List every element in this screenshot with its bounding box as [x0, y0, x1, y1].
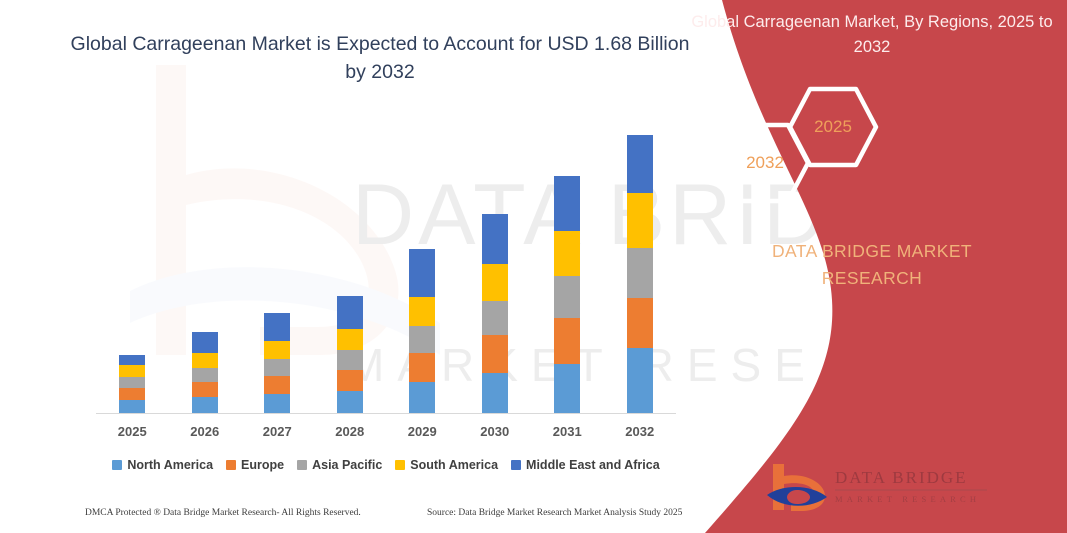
bar-2025[interactable] — [119, 355, 145, 413]
bar-segment[interactable] — [119, 388, 145, 400]
bar-segment[interactable] — [337, 296, 363, 329]
bar-segment[interactable] — [482, 264, 508, 301]
bar-segment[interactable] — [554, 276, 580, 318]
legend-label: Middle East and Africa — [526, 458, 660, 472]
x-tick-2028: 2028 — [320, 424, 380, 439]
bar-segment[interactable] — [627, 135, 653, 193]
legend-swatch-icon — [511, 460, 521, 470]
legend-swatch-icon — [297, 460, 307, 470]
bar-segment[interactable] — [264, 376, 290, 394]
logo-line-2: MARKET RESEARCH — [835, 494, 987, 504]
bar-segment[interactable] — [337, 391, 363, 413]
x-tick-2032: 2032 — [610, 424, 670, 439]
bar-segment[interactable] — [409, 382, 435, 413]
bar-segment[interactable] — [264, 341, 290, 359]
bar-2031[interactable] — [554, 176, 580, 413]
axis-baseline — [96, 413, 676, 414]
right-panel: Global Carrageenan Market, By Regions, 2… — [667, 0, 1067, 533]
bar-2026[interactable] — [192, 332, 218, 413]
legend-swatch-icon — [395, 460, 405, 470]
bar-segment[interactable] — [119, 400, 145, 413]
bar-segment[interactable] — [192, 397, 218, 413]
bar-segment[interactable] — [192, 382, 218, 397]
legend-label: North America — [127, 458, 213, 472]
bar-segment[interactable] — [192, 332, 218, 353]
legend-label: Asia Pacific — [312, 458, 382, 472]
legend-item[interactable]: Asia Pacific — [297, 458, 382, 472]
bar-segment[interactable] — [409, 326, 435, 353]
bar-2027[interactable] — [264, 313, 290, 413]
infographic-root: DATA BRIDGE MARKET RESEARCH Global Carra… — [0, 0, 1067, 533]
bar-2032[interactable] — [627, 135, 653, 413]
bar-segment[interactable] — [482, 214, 508, 264]
bar-segment[interactable] — [192, 368, 218, 382]
bar-segment[interactable] — [264, 359, 290, 376]
bar-segment[interactable] — [482, 301, 508, 335]
chart-plot-area — [96, 120, 676, 414]
footer-source: Source: Data Bridge Market Research Mark… — [427, 508, 682, 518]
hex-badge-2025-label: 2025 — [787, 86, 879, 168]
bar-2030[interactable] — [482, 214, 508, 413]
bar-2029[interactable] — [409, 249, 435, 413]
bar-segment[interactable] — [482, 373, 508, 413]
bar-2028[interactable] — [337, 296, 363, 413]
bar-segment[interactable] — [337, 370, 363, 391]
chart-title: Global Carrageenan Market is Expected to… — [60, 30, 700, 86]
hexagon-badges: 2032 2025 — [719, 86, 1039, 206]
logo-text: DATA BRIDGE MARKET RESEARCH — [835, 468, 987, 504]
bar-segment[interactable] — [409, 353, 435, 382]
chart-legend: North AmericaEuropeAsia PacificSouth Ame… — [96, 455, 676, 475]
bar-segment[interactable] — [627, 348, 653, 413]
panel-brand-line-2: RESEARCH — [822, 268, 922, 288]
x-axis-labels: 20252026202720282029203020312032 — [96, 424, 676, 444]
legend-item[interactable]: North America — [112, 458, 213, 472]
x-tick-2025: 2025 — [102, 424, 162, 439]
legend-item[interactable]: Middle East and Africa — [511, 458, 660, 472]
logo-line-1: DATA BRIDGE — [835, 468, 987, 487]
bar-segment[interactable] — [337, 329, 363, 350]
x-tick-2030: 2030 — [465, 424, 525, 439]
bar-segment[interactable] — [554, 176, 580, 231]
panel-brand-line-1: DATA BRIDGE MARKET — [772, 241, 972, 261]
bar-segment[interactable] — [337, 350, 363, 370]
bar-segment[interactable] — [119, 377, 145, 388]
bar-segment[interactable] — [192, 353, 218, 368]
bar-segment[interactable] — [119, 365, 145, 377]
bar-segment[interactable] — [554, 318, 580, 364]
bar-segment[interactable] — [264, 313, 290, 341]
bar-segment[interactable] — [627, 298, 653, 348]
bar-segment[interactable] — [627, 193, 653, 248]
bar-segment[interactable] — [482, 335, 508, 373]
footer: DMCA Protected ® Data Bridge Market Rese… — [0, 508, 700, 524]
panel-brand-name: DATA BRIDGE MARKET RESEARCH — [697, 238, 1047, 292]
x-tick-2031: 2031 — [537, 424, 597, 439]
footer-copyright: DMCA Protected ® Data Bridge Market Rese… — [85, 508, 361, 518]
bar-segment[interactable] — [409, 249, 435, 297]
legend-item[interactable]: South America — [395, 458, 498, 472]
x-tick-2029: 2029 — [392, 424, 452, 439]
data-bridge-logo: DATA BRIDGE MARKET RESEARCH — [767, 462, 997, 517]
x-tick-2027: 2027 — [247, 424, 307, 439]
legend-label: South America — [410, 458, 498, 472]
legend-item[interactable]: Europe — [226, 458, 284, 472]
logo-divider — [835, 489, 987, 491]
bar-segment[interactable] — [119, 355, 145, 365]
legend-label: Europe — [241, 458, 284, 472]
x-tick-2026: 2026 — [175, 424, 235, 439]
panel-title: Global Carrageenan Market, By Regions, 2… — [687, 10, 1057, 60]
bar-segment[interactable] — [264, 394, 290, 413]
bar-segment[interactable] — [627, 248, 653, 298]
bar-segment[interactable] — [554, 231, 580, 276]
legend-swatch-icon — [226, 460, 236, 470]
hex-badge-2025: 2025 — [787, 86, 879, 168]
legend-swatch-icon — [112, 460, 122, 470]
bar-segment[interactable] — [554, 364, 580, 413]
bar-segment[interactable] — [409, 297, 435, 326]
